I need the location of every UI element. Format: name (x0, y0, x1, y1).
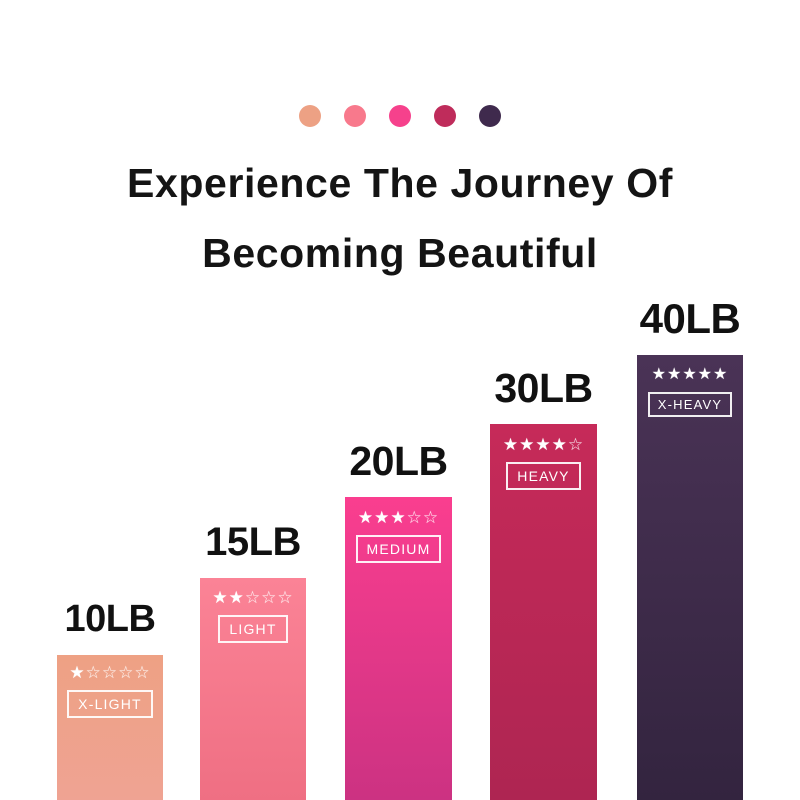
bar-badge-block: ★★☆☆☆LIGHT (200, 589, 306, 643)
bar-group-40lb[interactable]: 40LB★★★★★X-HEAVY (637, 355, 743, 800)
star-filled-icon: ★ (503, 436, 519, 453)
star-empty-icon: ☆ (277, 589, 293, 606)
star-filled-icon: ★ (652, 367, 667, 383)
star-filled-icon: ★ (390, 509, 406, 526)
star-empty-icon: ☆ (261, 589, 277, 606)
bar-badge-block: ★★★☆☆MEDIUM (345, 509, 452, 563)
bar-group-20lb[interactable]: 20LB★★★☆☆MEDIUM (345, 497, 452, 800)
resistance-band-bar-chart: 10LB★☆☆☆☆X-LIGHT15LB★★☆☆☆LIGHT20LB★★★☆☆M… (0, 0, 800, 800)
resistance-level-badge: HEAVY (506, 462, 580, 490)
star-empty-icon: ☆ (407, 509, 423, 526)
star-filled-icon: ★ (69, 664, 85, 681)
star-rating: ★★★☆☆ (358, 509, 439, 526)
bar-10lb: ★☆☆☆☆X-LIGHT (57, 655, 163, 800)
star-filled-icon: ★ (374, 509, 390, 526)
bar-weight-label-10lb: 10LB (57, 598, 163, 641)
star-empty-icon: ☆ (118, 664, 134, 681)
star-empty-icon: ☆ (86, 664, 102, 681)
star-filled-icon: ★ (535, 436, 551, 453)
star-rating: ★☆☆☆☆ (69, 664, 150, 681)
infographic-page: Experience The Journey Of Becoming Beaut… (0, 0, 800, 800)
bar-40lb: ★★★★★X-HEAVY (637, 355, 743, 800)
star-empty-icon: ☆ (568, 436, 584, 453)
star-filled-icon: ★ (698, 367, 713, 383)
star-empty-icon: ☆ (134, 664, 150, 681)
star-rating: ★★★★☆ (503, 436, 584, 453)
resistance-level-badge: MEDIUM (356, 535, 442, 563)
bar-20lb: ★★★☆☆MEDIUM (345, 497, 452, 800)
star-filled-icon: ★ (229, 589, 245, 606)
star-filled-icon: ★ (713, 367, 728, 383)
bar-badge-block: ★★★★☆HEAVY (490, 436, 597, 490)
star-filled-icon: ★ (212, 589, 228, 606)
star-filled-icon: ★ (682, 367, 697, 383)
bar-15lb: ★★☆☆☆LIGHT (200, 578, 306, 800)
star-filled-icon: ★ (552, 436, 568, 453)
resistance-level-badge: X-LIGHT (67, 690, 153, 718)
star-empty-icon: ☆ (423, 509, 439, 526)
bar-group-10lb[interactable]: 10LB★☆☆☆☆X-LIGHT (57, 655, 163, 800)
star-filled-icon: ★ (358, 509, 374, 526)
star-filled-icon: ★ (519, 436, 535, 453)
bar-badge-block: ★★★★★X-HEAVY (637, 367, 743, 417)
star-rating: ★★★★★ (652, 367, 729, 383)
star-empty-icon: ☆ (102, 664, 118, 681)
resistance-level-badge: LIGHT (218, 615, 287, 643)
bar-group-30lb[interactable]: 30LB★★★★☆HEAVY (490, 424, 597, 800)
bar-weight-label-30lb: 30LB (490, 365, 597, 412)
resistance-level-badge: X-HEAVY (648, 392, 733, 417)
star-rating: ★★☆☆☆ (212, 589, 293, 606)
bar-weight-label-40lb: 40LB (637, 295, 743, 343)
bar-30lb: ★★★★☆HEAVY (490, 424, 597, 800)
bar-group-15lb[interactable]: 15LB★★☆☆☆LIGHT (200, 578, 306, 800)
star-empty-icon: ☆ (245, 589, 261, 606)
bar-weight-label-15lb: 15LB (200, 520, 306, 565)
bar-weight-label-20lb: 20LB (345, 438, 452, 485)
bar-badge-block: ★☆☆☆☆X-LIGHT (57, 664, 163, 718)
star-filled-icon: ★ (667, 367, 682, 383)
